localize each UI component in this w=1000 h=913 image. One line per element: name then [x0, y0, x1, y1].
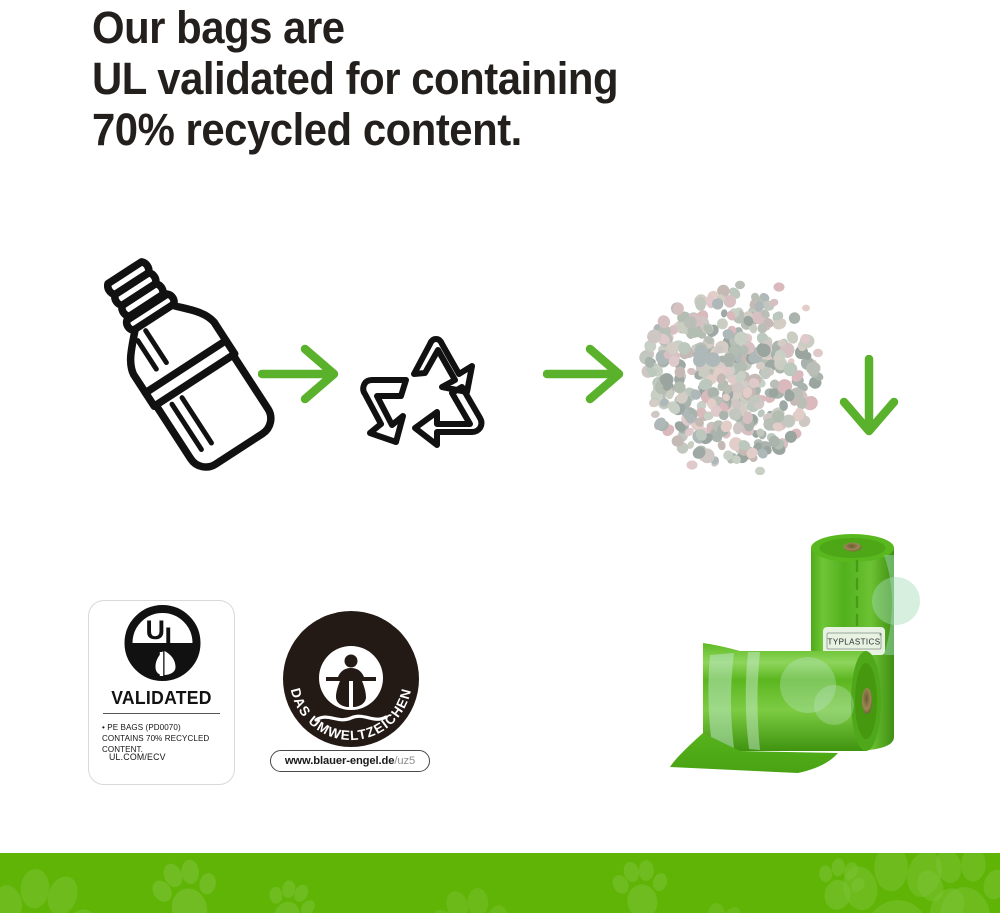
registered-mark: ®: [879, 632, 882, 637]
arrow-down-icon: [838, 355, 900, 446]
bottom-paw-banner: [0, 853, 1000, 913]
product-infographic: Our bags are UL validated for containing…: [0, 0, 1000, 913]
svg-text:L: L: [165, 622, 182, 652]
plastic-pellets-icon: [632, 275, 830, 480]
page-title: Our bags are UL validated for containing…: [92, 2, 855, 155]
headline-line-1: Our bags are: [92, 2, 855, 53]
certification-badges: U L VALIDATED • PE BAGS (PD0070) CONTAIN…: [0, 596, 640, 806]
headline-line-3: 70% recycled content.: [92, 104, 855, 155]
bag-rolls-image: TYPLASTICS ®: [648, 505, 938, 810]
brand-label-text: TYPLASTICS: [828, 638, 881, 647]
ul-mark-icon: U L: [89, 601, 236, 685]
arrow-right-icon: [543, 343, 629, 410]
headline-line-2: UL validated for containing: [92, 53, 855, 104]
blauer-engel-seal-icon: BLAUER ENGEL DAS UMWELTZEICHEN: [266, 608, 436, 750]
be-url-main: www.blauer-engel.de: [285, 755, 395, 767]
blauer-engel-url-box[interactable]: www.blauer-engel.de/uz5: [270, 750, 430, 772]
blauer-engel-badge[interactable]: BLAUER ENGEL DAS UMWELTZEICHEN: [266, 608, 436, 755]
recycling-process-row: [0, 235, 1000, 495]
ul-validated-badge[interactable]: U L VALIDATED • PE BAGS (PD0070) CONTAIN…: [88, 600, 235, 785]
arrow-right-icon: [258, 343, 344, 410]
ul-url-label: UL.COM/ECV: [109, 752, 166, 762]
bag-roll-lying: [670, 643, 881, 773]
ul-fine-print: • PE BAGS (PD0070) CONTAINS 70% RECYCLED…: [102, 722, 221, 756]
recycle-symbol-icon: [352, 330, 512, 467]
brand-label: TYPLASTICS ®: [823, 627, 885, 655]
be-url-sub: /uz5: [394, 755, 415, 767]
ul-validated-label: VALIDATED: [93, 687, 231, 709]
svg-text:U: U: [146, 615, 166, 645]
ul-divider: [103, 713, 220, 714]
